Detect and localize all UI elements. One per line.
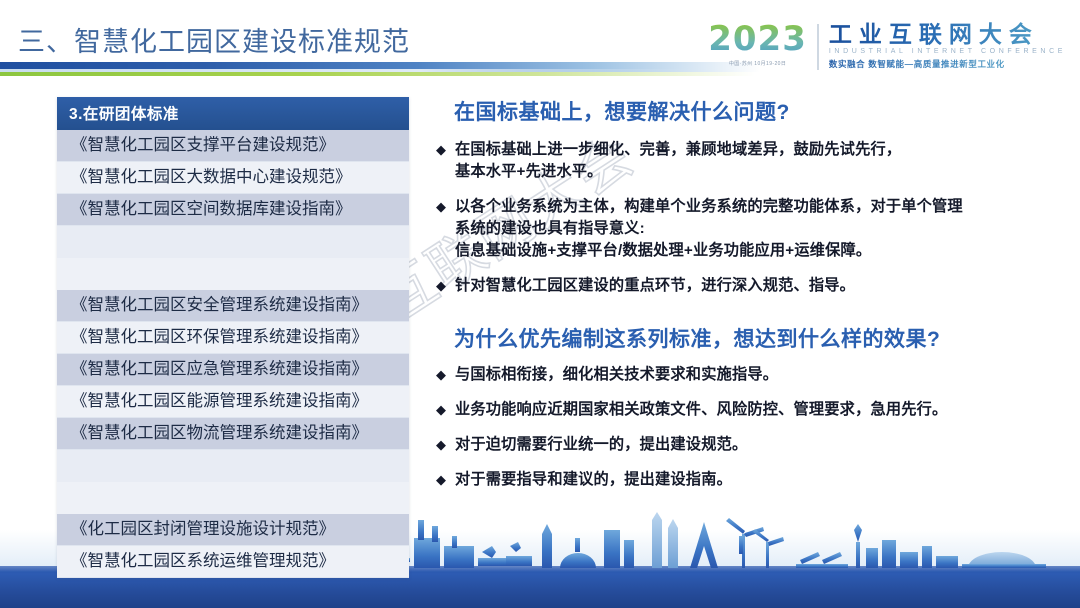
standard-row[interactable]: 《智慧化工园区空间数据库建设指南》 [57, 194, 409, 226]
header-rule-green [0, 72, 755, 76]
diamond-bullet-icon: ◆ [436, 469, 446, 490]
bullet-item: ◆业务功能响应近期国家相关政策文件、风险防控、管理要求，急用先行。 [432, 399, 1044, 421]
diamond-bullet-icon: ◆ [436, 364, 446, 385]
standard-row[interactable]: 《智慧化工园区系统运维管理规范》 [57, 546, 409, 578]
standards-list: 《智慧化工园区支撑平台建设规范》《智慧化工园区大数据中心建设规范》《智慧化工园区… [57, 130, 409, 578]
diamond-bullet-icon: ◆ [436, 434, 446, 455]
bullet-line: 以各个业务系统为主体，构建单个业务系统的完整功能体系，对于单个管理 [455, 196, 963, 218]
bullet-line: 业务功能响应近期国家相关政策文件、风险防控、管理要求，急用先行。 [455, 399, 947, 421]
bullet-item: ◆对于需要指导和建议的，提出建设指南。 [432, 469, 1044, 491]
bullet-item: ◆在国标基础上进一步细化、完善，兼顾地域差异，鼓励先试先行，基本水平+先进水平。 [432, 139, 1044, 183]
section-2-heading: 为什么优先编制这系列标准，想达到什么样的效果? [454, 323, 1044, 353]
bullet-line: 在国标基础上进一步细化、完善，兼顾地域差异，鼓励先试先行， [455, 139, 901, 161]
standards-panel-heading: 3.在研团体标准 [57, 97, 409, 130]
section-1-bullets: ◆在国标基础上进一步细化、完善，兼顾地域差异，鼓励先试先行，基本水平+先进水平。… [432, 139, 1044, 297]
diamond-bullet-icon: ◆ [436, 196, 446, 217]
bullet-item: ◆针对智慧化工园区建设的重点环节，进行深入规范、指导。 [432, 275, 1044, 297]
bullet-line: 对于需要指导和建议的，提出建设指南。 [455, 469, 732, 491]
content-column: 在国标基础上，想要解决什么问题? ◆在国标基础上进一步细化、完善，兼顾地域差异，… [432, 96, 1044, 504]
standard-row[interactable]: 《智慧化工园区环保管理系统建设指南》 [57, 322, 409, 354]
logo-name-en: INDUSTRIAL INTERNET CONFERENCE [829, 48, 1066, 55]
bullet-text: 业务功能响应近期国家相关政策文件、风险防控、管理要求，急用先行。 [455, 399, 947, 421]
bullet-text: 对于需要指导和建议的，提出建设指南。 [455, 469, 732, 491]
logo-year-text: 2023 [708, 22, 807, 56]
bullet-item: ◆与国标相衔接，细化相关技术要求和实施指导。 [432, 364, 1044, 386]
bullet-text: 针对智慧化工园区建设的重点环节，进行深入规范、指导。 [455, 275, 855, 297]
standard-row-spacer [57, 258, 409, 290]
bullet-line: 基本水平+先进水平。 [455, 161, 901, 183]
section-2-bullets: ◆与国标相衔接，细化相关技术要求和实施指导。◆业务功能响应近期国家相关政策文件、… [432, 364, 1044, 491]
standards-panel: 3.在研团体标准 《智慧化工园区支撑平台建设规范》《智慧化工园区大数据中心建设规… [57, 97, 409, 578]
logo-name-cn: 工业互联网大会 [829, 22, 1066, 46]
logo-divider [817, 24, 819, 70]
bullet-item: ◆对于迫切需要行业统一的，提出建设规范。 [432, 434, 1044, 456]
standard-row[interactable]: 《智慧化工园区大数据中心建设规范》 [57, 162, 409, 194]
logo-year-block: 2023 中国·苏州 10月19-20日 [708, 22, 817, 67]
logo-name-block: 工业互联网大会 INDUSTRIAL INTERNET CONFERENCE 数… [829, 22, 1066, 70]
logo-year-subtitle: 中国·苏州 10月19-20日 [729, 60, 786, 67]
logo-slogan: 数实融合 数智赋能—高质量推进新型工业化 [829, 58, 1066, 70]
bullet-line: 与国标相衔接，细化相关技术要求和实施指导。 [455, 364, 778, 386]
bullet-line: 系统的建设也具有指导意义: [455, 218, 963, 240]
standard-row-spacer [57, 226, 409, 258]
standard-row[interactable]: 《化工园区封闭管理设施设计规范》 [57, 514, 409, 546]
diamond-bullet-icon: ◆ [436, 275, 446, 296]
bullet-text: 在国标基础上进一步细化、完善，兼顾地域差异，鼓励先试先行，基本水平+先进水平。 [455, 139, 901, 183]
section-1-heading: 在国标基础上，想要解决什么问题? [454, 96, 1044, 126]
bullet-line: 对于迫切需要行业统一的，提出建设规范。 [455, 434, 747, 456]
bullet-text: 对于迫切需要行业统一的，提出建设规范。 [455, 434, 747, 456]
standard-row-spacer [57, 482, 409, 514]
standard-row-spacer [57, 450, 409, 482]
diamond-bullet-icon: ◆ [436, 399, 446, 420]
bullet-item: ◆以各个业务系统为主体，构建单个业务系统的完整功能体系，对于单个管理系统的建设也… [432, 196, 1044, 262]
bullet-text: 与国标相衔接，细化相关技术要求和实施指导。 [455, 364, 778, 386]
bullet-line: 针对智慧化工园区建设的重点环节，进行深入规范、指导。 [455, 275, 855, 297]
bullet-line: 信息基础设施+支撑平台/数据处理+业务功能应用+运维保障。 [455, 240, 963, 262]
standard-row[interactable]: 《智慧化工园区应急管理系统建设指南》 [57, 354, 409, 386]
conference-logo: 2023 中国·苏州 10月19-20日 工业互联网大会 INDUSTRIAL … [708, 22, 1066, 70]
page-title: 三、智慧化工园区建设标准规范 [18, 20, 410, 59]
standard-row[interactable]: 《智慧化工园区物流管理系统建设指南》 [57, 418, 409, 450]
standard-row[interactable]: 《智慧化工园区安全管理系统建设指南》 [57, 290, 409, 322]
slide-root: 三、智慧化工园区建设标准规范 2023 中国·苏州 10月19-20日 工业互联… [0, 0, 1080, 608]
bullet-text: 以各个业务系统为主体，构建单个业务系统的完整功能体系，对于单个管理系统的建设也具… [455, 196, 963, 262]
standard-row[interactable]: 《智慧化工园区能源管理系统建设指南》 [57, 386, 409, 418]
diamond-bullet-icon: ◆ [436, 139, 446, 160]
standard-row[interactable]: 《智慧化工园区支撑平台建设规范》 [57, 130, 409, 162]
